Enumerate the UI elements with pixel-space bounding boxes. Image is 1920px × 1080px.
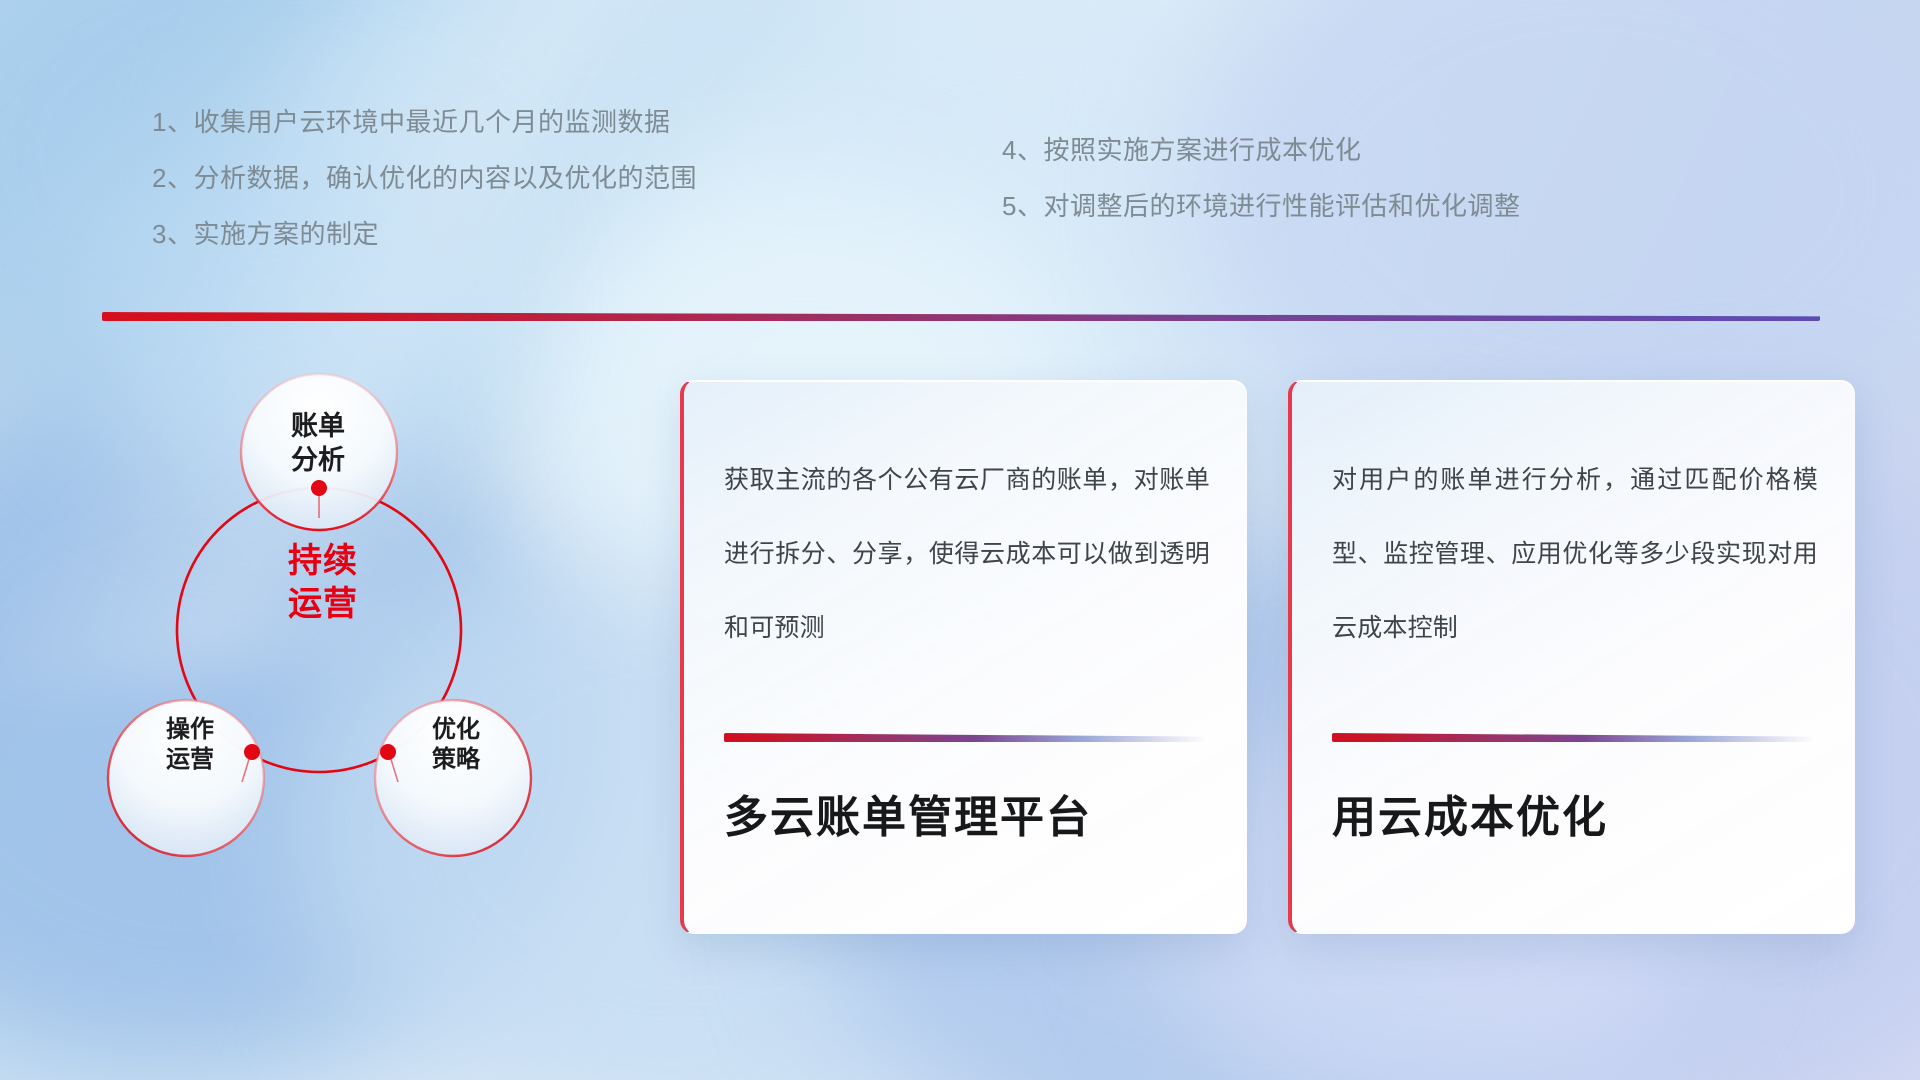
venn-center-label-line: 运营 — [243, 583, 403, 626]
venn-label-line: 账单 — [238, 410, 398, 444]
venn-label-line: 操作 — [110, 715, 270, 745]
step-item: 2、分析数据，确认优化的内容以及优化的范围 — [152, 150, 697, 206]
venn-label-billing-analysis: 账单 分析 — [238, 410, 398, 478]
card-title: 多云账单管理平台 — [724, 781, 1226, 845]
venn-label-optimization-strategy: 优化 策略 — [376, 715, 536, 775]
venn-label-line: 策略 — [376, 745, 536, 775]
venn-diagram: 账单 分析 操作 运营 优化 策略 持续 运营 — [88, 340, 558, 940]
venn-center-label-line: 持续 — [243, 540, 403, 583]
section-divider — [102, 312, 1820, 321]
steps-right-column: 4、按照实施方案进行成本优化 5、对调整后的环境进行性能评估和优化调整 — [1002, 122, 1520, 234]
card-title: 用云成本优化 — [1332, 781, 1834, 845]
steps-left-column: 1、收集用户云环境中最近几个月的监测数据 2、分析数据，确认优化的内容以及优化的… — [152, 94, 697, 262]
venn-label-line: 优化 — [376, 715, 536, 745]
feature-card-multicloud-billing[interactable]: 获取主流的各个公有云厂商的账单，对账单进行拆分、分享，使得云成本可以做到透明和可… — [680, 380, 1247, 934]
step-item: 3、实施方案的制定 — [152, 206, 697, 262]
step-item: 4、按照实施方案进行成本优化 — [1002, 122, 1520, 178]
card-body-text: 获取主流的各个公有云厂商的账单，对账单进行拆分、分享，使得云成本可以做到透明和可… — [724, 443, 1210, 665]
card-accent-rule — [724, 733, 1206, 742]
feature-card-cloud-cost-optimization[interactable]: 对用户的账单进行分析，通过匹配价格模型、监控管理、应用优化等多少段实现对用云成本… — [1288, 380, 1855, 934]
venn-label-line: 分析 — [238, 444, 398, 478]
step-item: 5、对调整后的环境进行性能评估和优化调整 — [1002, 178, 1520, 234]
venn-label-operations: 操作 运营 — [110, 715, 270, 775]
step-item: 1、收集用户云环境中最近几个月的监测数据 — [152, 94, 697, 150]
card-body-text: 对用户的账单进行分析，通过匹配价格模型、监控管理、应用优化等多少段实现对用云成本… — [1332, 443, 1818, 665]
venn-label-line: 运营 — [110, 745, 270, 775]
venn-center-label: 持续 运营 — [243, 540, 403, 625]
section-divider-bar — [102, 312, 1820, 321]
slide-canvas: 1、收集用户云环境中最近几个月的监测数据 2、分析数据，确认优化的内容以及优化的… — [0, 0, 1920, 1080]
card-accent-rule — [1332, 733, 1814, 742]
